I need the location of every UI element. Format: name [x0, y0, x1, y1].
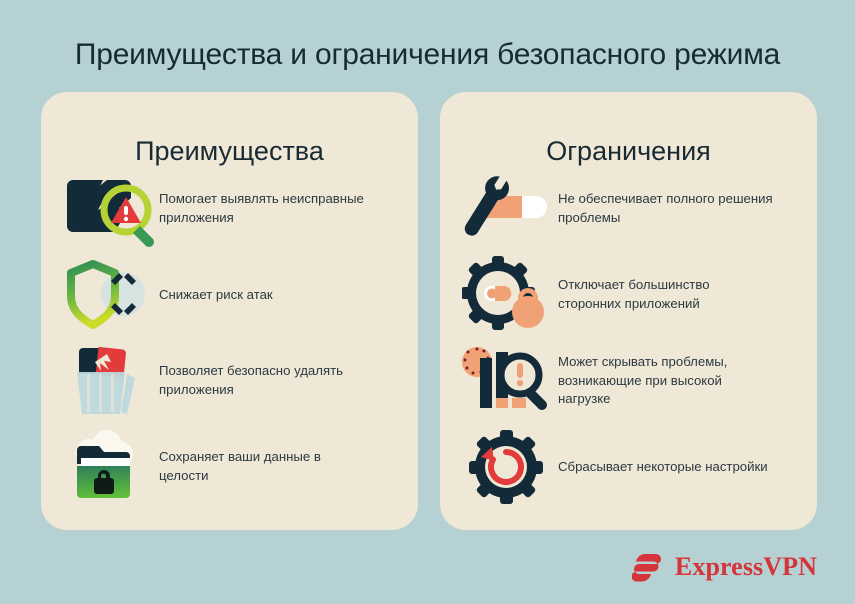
list-item-label: Сбрасывает некоторые настройки: [558, 458, 768, 477]
list-item: Не обеспечивает полного решения проблемы: [440, 166, 817, 252]
limitations-card-title: Ограничения: [440, 136, 817, 167]
infographic-page: Преимущества и ограничения безопасного р…: [0, 0, 855, 604]
benefits-card: Преимущества Помогает выявлять неисправн: [41, 92, 418, 530]
expressvpn-e-mark-icon: [632, 550, 666, 584]
expressvpn-logo: ExpressVPN: [632, 550, 817, 584]
expressvpn-wordmark: ExpressVPN: [675, 552, 817, 582]
cloud-folder-lock-icon: [63, 428, 159, 506]
list-item-label: Не обеспечивает полного решения проблемы: [558, 190, 773, 227]
list-item-label: Сохраняет ваши данные в целости: [159, 448, 374, 485]
benefits-item-list: Помогает выявлять неисправные приложения: [41, 166, 418, 510]
gear-reset-icon: [462, 428, 558, 506]
limitations-card: Ограничения Не обеспечивает полного реше…: [440, 92, 817, 530]
list-item: Снижает риск атак: [41, 252, 418, 338]
list-item: Сбрасывает некоторые настройки: [440, 424, 817, 510]
gear-toggle-lock-icon: [462, 256, 558, 334]
list-item-label: Позволяет безопасно удалять приложения: [159, 362, 374, 399]
trash-apps-icon: [63, 342, 159, 420]
shield-shrink-arrows-icon: [63, 256, 159, 334]
list-item: Отключает большинство сторонних приложен…: [440, 252, 817, 338]
list-item: Помогает выявлять неисправные приложения: [41, 166, 418, 252]
bar-chart-magnifier-alert-icon: [462, 342, 558, 420]
list-item-label: Снижает риск атак: [159, 286, 273, 305]
limitations-item-list: Не обеспечивает полного решения проблемы: [440, 166, 817, 510]
list-item: Позволяет безопасно удалять приложения: [41, 338, 418, 424]
benefits-card-title: Преимущества: [41, 136, 418, 167]
list-item: Может скрывать проблемы, возникающие при…: [440, 338, 817, 424]
wrench-progress-icon: [462, 170, 558, 248]
list-item-label: Может скрывать проблемы, возникающие при…: [558, 353, 773, 409]
list-item: Сохраняет ваши данные в целости: [41, 424, 418, 510]
page-title: Преимущества и ограничения безопасного р…: [0, 38, 855, 72]
list-item-label: Отключает большинство сторонних приложен…: [558, 276, 773, 313]
list-item-label: Помогает выявлять неисправные приложения: [159, 190, 374, 227]
broken-device-magnifier-icon: [63, 170, 159, 248]
